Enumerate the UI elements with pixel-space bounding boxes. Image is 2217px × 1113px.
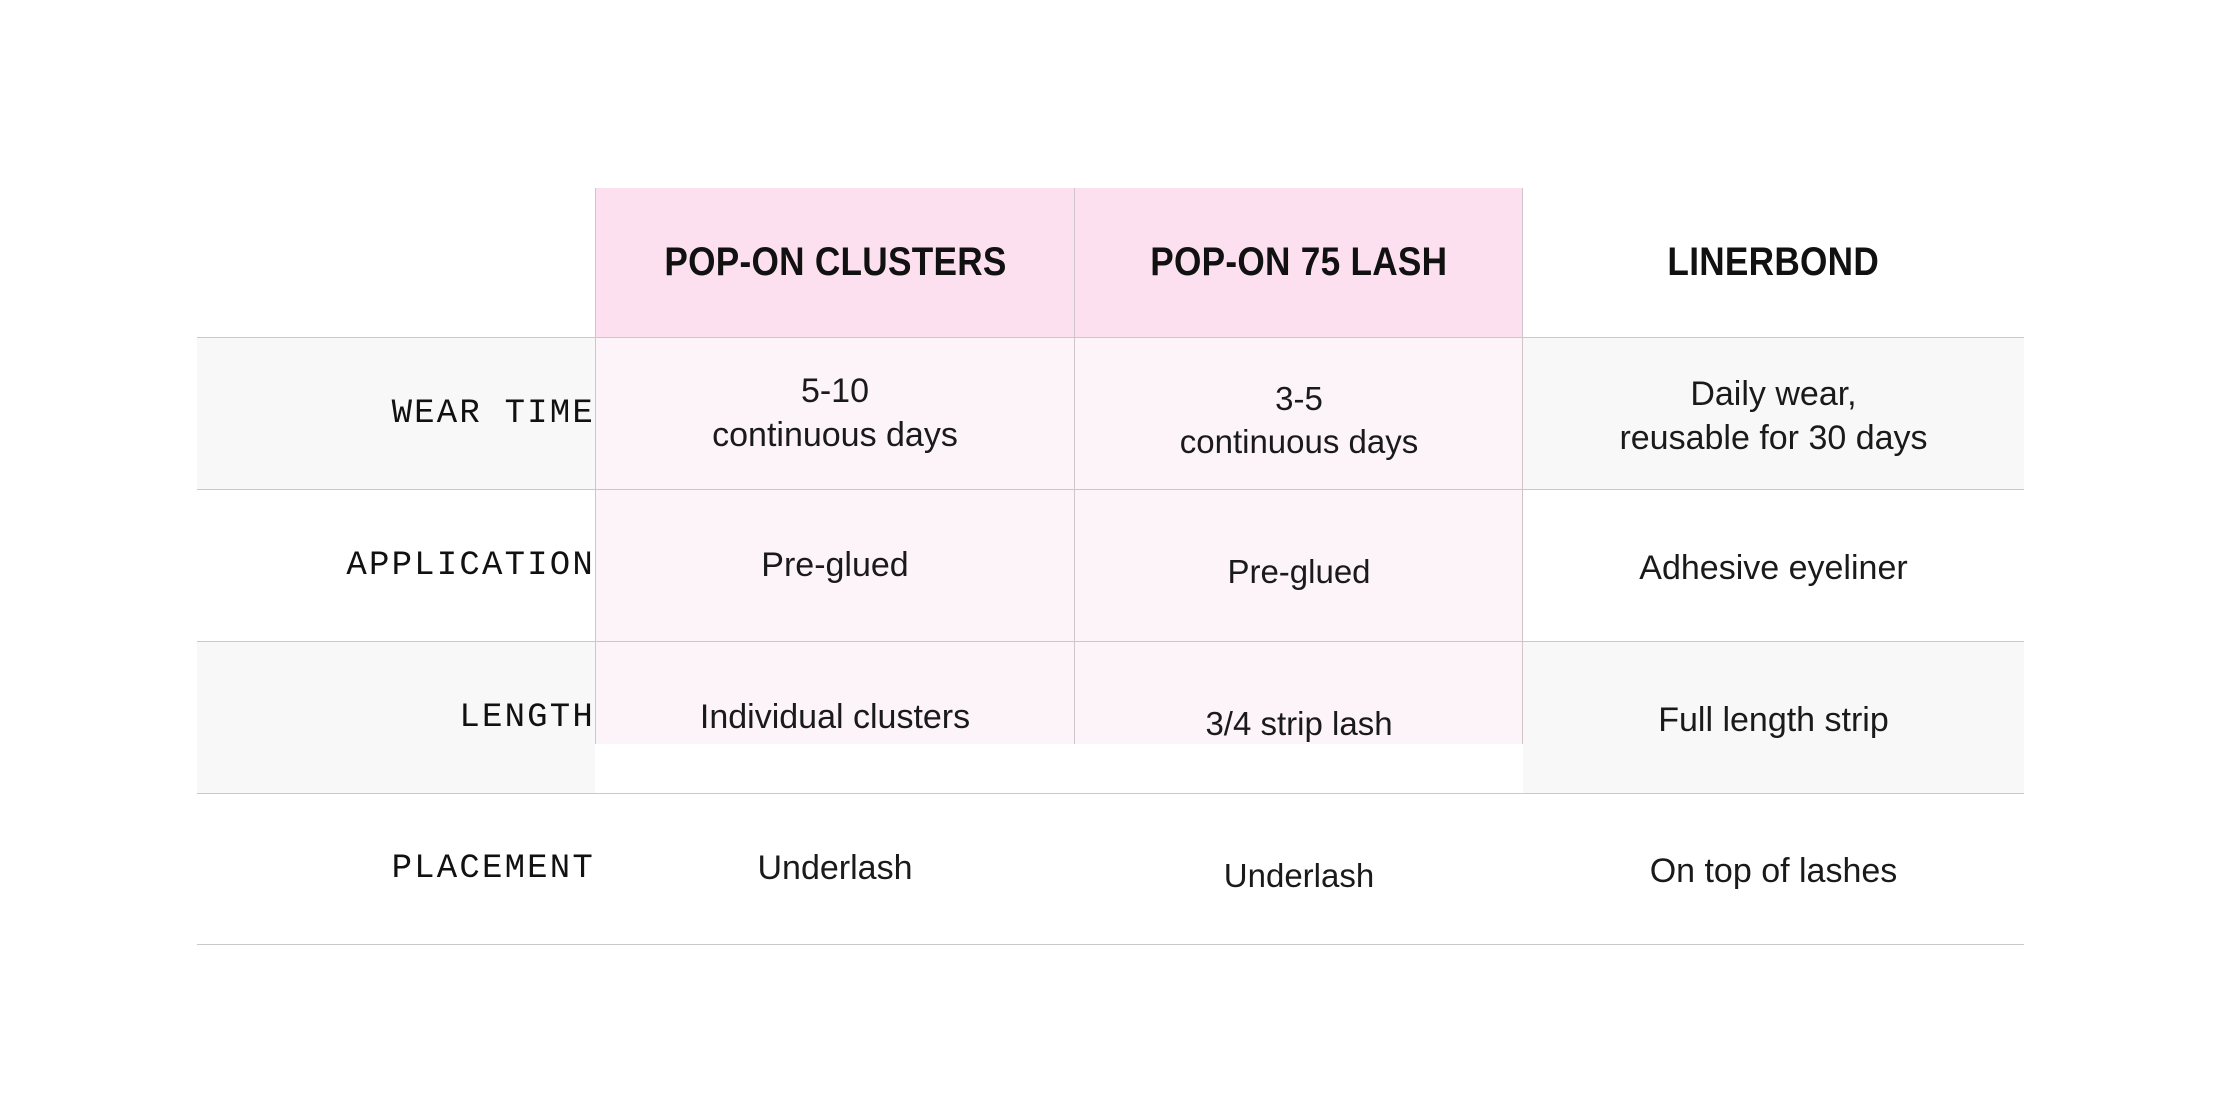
- column-header-label: POP-ON CLUSTERS: [664, 240, 1006, 285]
- column-header-pop-on-75-lash: POP-ON 75 LASH: [1075, 188, 1523, 337]
- row-label-header: [197, 188, 595, 337]
- cell-value: Full length strip: [1658, 699, 1889, 743]
- cell-value: Adhesive eyeliner: [1639, 547, 1907, 591]
- cell-value: Underlash: [1224, 855, 1374, 897]
- cell-value: 3/4 strip lash: [1205, 703, 1392, 745]
- cell-value: 5-10 continuous days: [712, 370, 958, 457]
- column-header-linerbond: LINERBOND: [1523, 188, 2024, 337]
- cell-value: Underlash: [758, 847, 913, 891]
- table-header-row: POP-ON CLUSTERS POP-ON 75 LASH LINERBOND: [197, 188, 2024, 337]
- table-grid: POP-ON CLUSTERS POP-ON 75 LASH LINERBOND…: [197, 188, 2024, 945]
- cell-length-linerbond: Full length strip: [1523, 642, 2024, 793]
- cell-wear-time-pop-on-75-lash: 3-5 continuous days: [1075, 338, 1523, 489]
- comparison-table: POP-ON CLUSTERS POP-ON 75 LASH LINERBOND…: [197, 188, 2024, 945]
- table-row: PLACEMENT Underlash Underlash On top of …: [197, 793, 2024, 945]
- cell-value: 3-5 continuous days: [1180, 378, 1419, 462]
- cell-length-pop-on-75-lash: 3/4 strip lash: [1075, 642, 1523, 793]
- cell-placement-pop-on-75-lash: Underlash: [1075, 794, 1523, 944]
- column-header-label: POP-ON 75 LASH: [1150, 240, 1447, 285]
- cell-placement-pop-on-clusters: Underlash: [595, 794, 1075, 944]
- row-label-application: APPLICATION: [197, 490, 595, 641]
- cell-value: Daily wear, reusable for 30 days: [1619, 373, 1927, 460]
- row-label-length: LENGTH: [197, 642, 595, 793]
- cell-value: Pre-glued: [761, 544, 908, 588]
- cell-placement-linerbond: On top of lashes: [1523, 794, 2024, 944]
- cell-value: Pre-glued: [1227, 551, 1370, 593]
- cell-application-pop-on-75-lash: Pre-glued: [1075, 490, 1523, 641]
- column-header-label: LINERBOND: [1668, 240, 1880, 285]
- cell-application-linerbond: Adhesive eyeliner: [1523, 490, 2024, 641]
- table-row: LENGTH Individual clusters 3/4 strip las…: [197, 641, 2024, 793]
- table-row: WEAR TIME 5-10 continuous days 3-5 conti…: [197, 337, 2024, 489]
- cell-application-pop-on-clusters: Pre-glued: [595, 490, 1075, 641]
- cell-wear-time-pop-on-clusters: 5-10 continuous days: [595, 338, 1075, 489]
- cell-wear-time-linerbond: Daily wear, reusable for 30 days: [1523, 338, 2024, 489]
- row-label-wear-time: WEAR TIME: [197, 338, 595, 489]
- table-row: APPLICATION Pre-glued Pre-glued Adhesive…: [197, 489, 2024, 641]
- row-label-placement: PLACEMENT: [197, 794, 595, 944]
- cell-value: Individual clusters: [700, 696, 970, 740]
- cell-length-pop-on-clusters: Individual clusters: [595, 642, 1075, 793]
- cell-value: On top of lashes: [1650, 850, 1898, 894]
- column-header-pop-on-clusters: POP-ON CLUSTERS: [595, 188, 1075, 337]
